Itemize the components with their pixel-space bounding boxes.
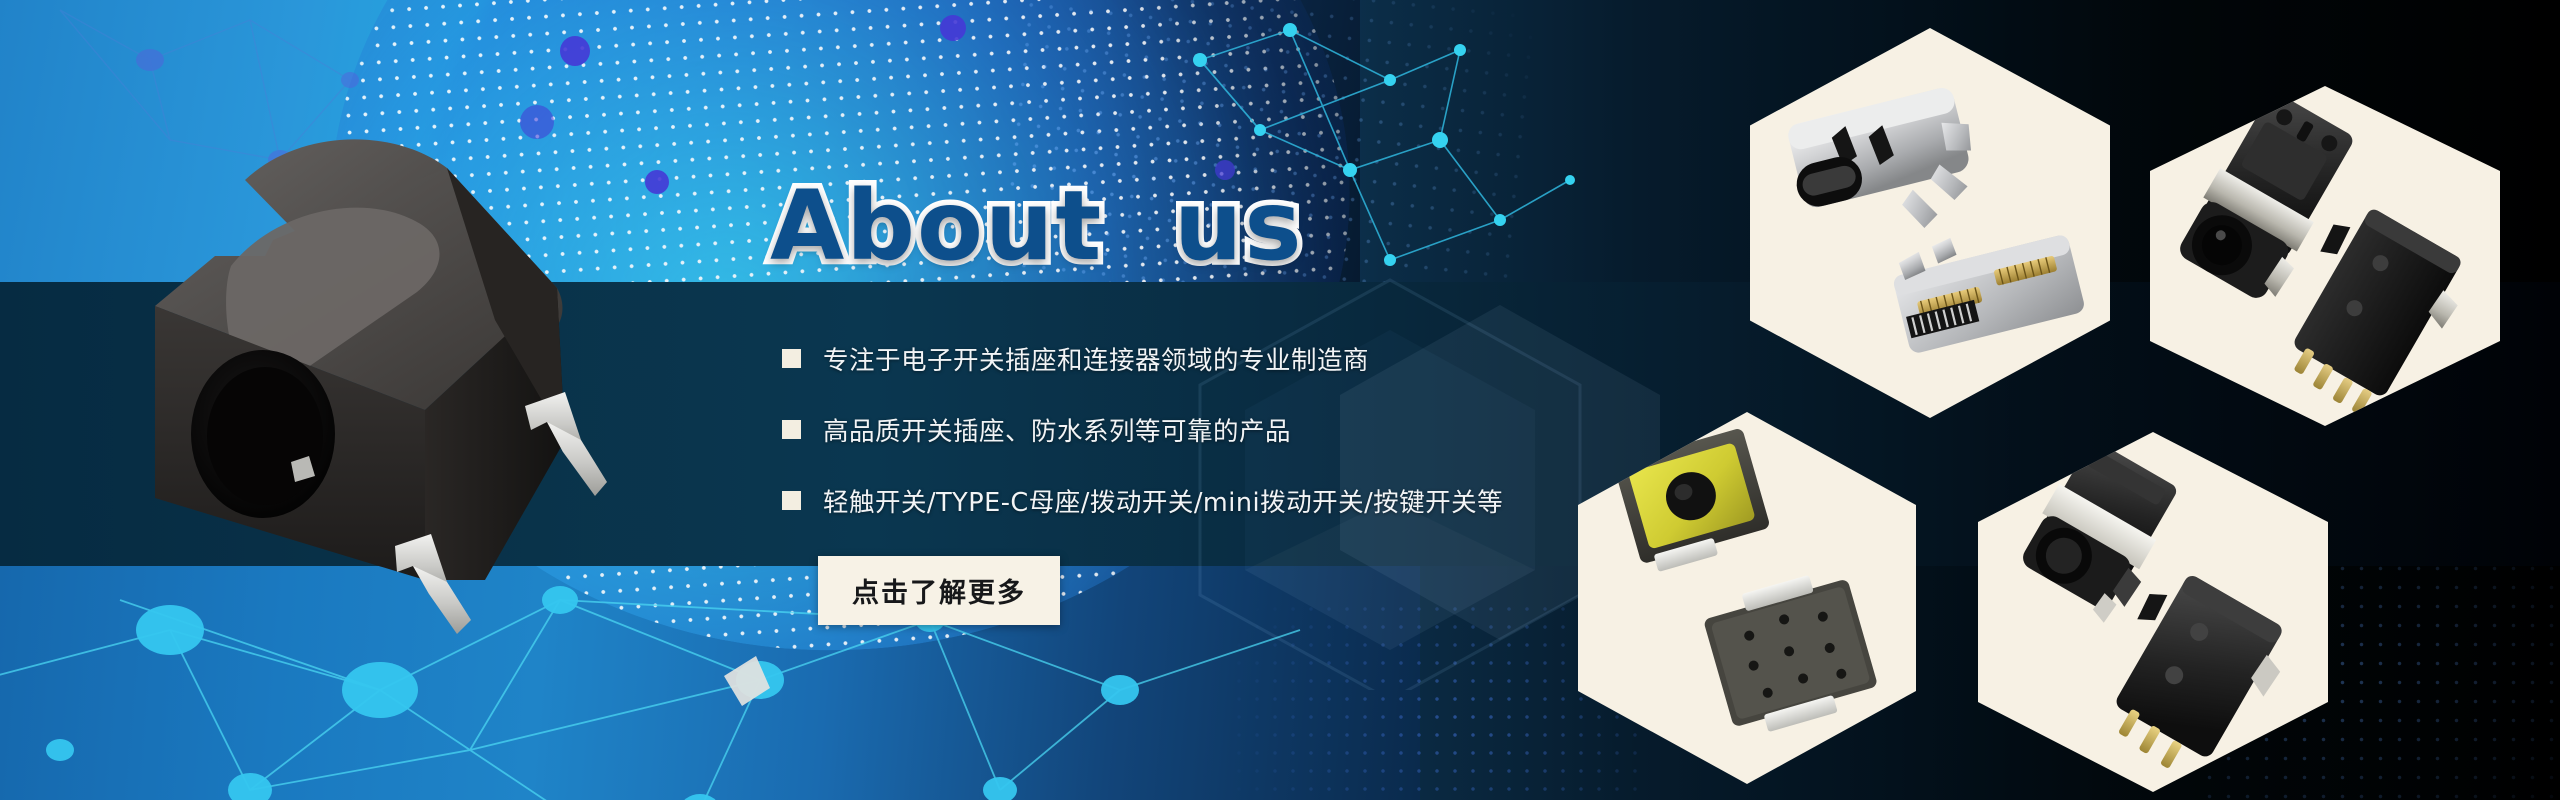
list-item: 轻触开关/TYPE-C母座/拨动开关/mini拨动开关/按键开关等: [782, 482, 1682, 519]
hero-product-dc-power-jack: [95, 110, 655, 640]
list-item: 高品质开关插座、防水系列等可靠的产品: [782, 411, 1682, 448]
square-bullet-icon: [782, 491, 801, 510]
list-item: 专注于电子开关插座和连接器领域的专业制造商: [782, 340, 1682, 377]
accent-dot-3: [940, 15, 966, 41]
page-title: About us: [770, 178, 1304, 274]
about-us-banner: About us 专注于电子开关插座和连接器领域的专业制造商 高品质开关插座、防…: [0, 0, 2560, 800]
learn-more-button[interactable]: 点击了解更多: [818, 556, 1060, 625]
list-item-label: 轻触开关/TYPE-C母座/拨动开关/mini拨动开关/按键开关等: [823, 482, 1503, 519]
square-bullet-icon: [782, 349, 801, 368]
list-item-label: 高品质开关插座、防水系列等可靠的产品: [823, 411, 1291, 448]
feature-list: 专注于电子开关插座和连接器领域的专业制造商 高品质开关插座、防水系列等可靠的产品…: [782, 340, 1682, 553]
list-item-label: 专注于电子开关插座和连接器领域的专业制造商: [823, 340, 1369, 377]
square-bullet-icon: [782, 420, 801, 439]
accent-dot-1: [560, 36, 590, 66]
